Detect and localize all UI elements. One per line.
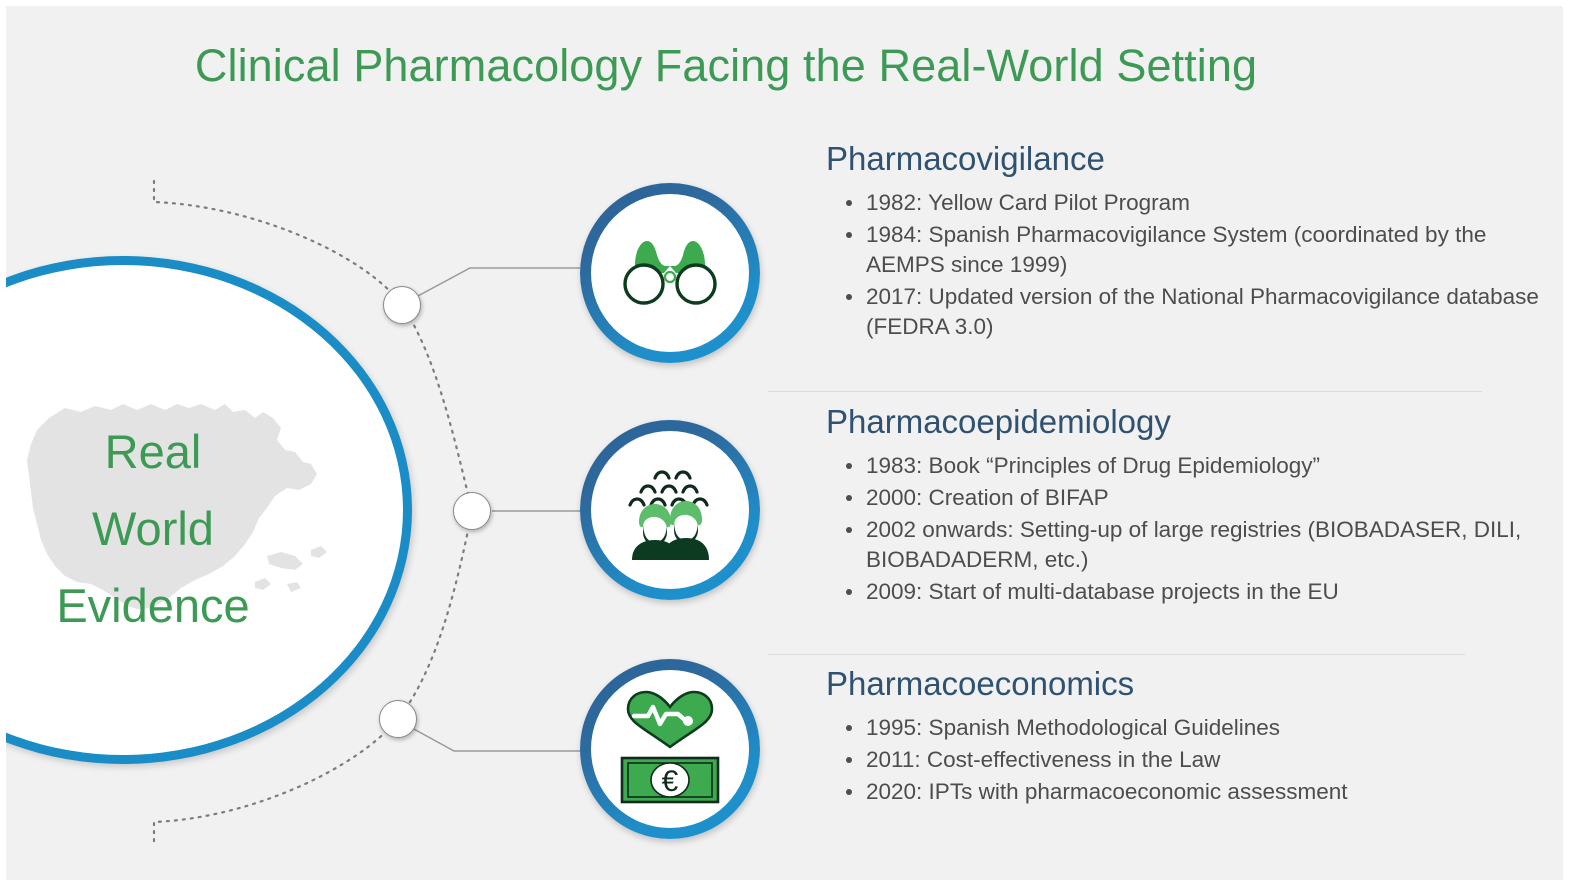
section-pharmacovigilance: Pharmacovigilance 1982: Yellow Card Pilo… xyxy=(826,139,1546,344)
bullet-list: 1995: Spanish Methodological Guidelines … xyxy=(826,713,1347,807)
section-divider xyxy=(768,654,1465,655)
section-pharmacoepidemiology: Pharmacoepidemiology 1983: Book “Princip… xyxy=(826,402,1546,609)
list-item: 2020: IPTs with pharmacoeconomic assessm… xyxy=(826,777,1347,807)
section-heading: Pharmacoepidemiology xyxy=(826,402,1546,442)
list-item: 1982: Yellow Card Pilot Program xyxy=(826,188,1546,218)
hub-label: Real World Evidence xyxy=(6,413,303,644)
list-item: 2000: Creation of BIFAP xyxy=(826,483,1546,513)
hub-label-line-2: World xyxy=(6,490,303,567)
icon-inner: € xyxy=(591,670,749,828)
connector-node-pharmacovigilance[interactable] xyxy=(383,286,421,324)
list-item: 2017: Updated version of the National Ph… xyxy=(826,282,1546,342)
icon-inner xyxy=(591,194,749,352)
icon-circle-pharmacoeconomics[interactable]: € xyxy=(580,659,760,839)
list-item: 1995: Spanish Methodological Guidelines xyxy=(826,713,1347,743)
section-heading: Pharmacoeconomics xyxy=(826,664,1347,704)
hub-label-line-1: Real xyxy=(6,413,303,490)
heart-euro-icon: € xyxy=(614,690,726,808)
infographic-slide: Clinical Pharmacology Facing the Real-Wo… xyxy=(6,6,1563,880)
connector-node-pharmacoepidemiology[interactable] xyxy=(453,492,491,530)
section-divider xyxy=(768,391,1482,392)
bullet-list: 1983: Book “Principles of Drug Epidemiol… xyxy=(826,451,1546,607)
icon-circle-pharmacovigilance[interactable] xyxy=(580,183,760,363)
connector-node-pharmacoeconomics[interactable] xyxy=(379,700,417,738)
list-item: 1983: Book “Principles of Drug Epidemiol… xyxy=(826,451,1546,481)
svg-text:€: € xyxy=(662,765,679,798)
binoculars-icon xyxy=(616,235,724,311)
hub-label-line-3: Evidence xyxy=(6,567,303,644)
icon-inner xyxy=(591,431,749,589)
people-crowd-icon xyxy=(614,460,726,560)
section-heading: Pharmacovigilance xyxy=(826,139,1546,179)
page-title: Clinical Pharmacology Facing the Real-Wo… xyxy=(6,40,1446,92)
section-pharmacoeconomics: Pharmacoeconomics 1995: Spanish Methodol… xyxy=(826,664,1347,809)
bullet-list: 1982: Yellow Card Pilot Program 1984: Sp… xyxy=(826,188,1546,342)
list-item: 1984: Spanish Pharmacovigilance System (… xyxy=(826,220,1546,280)
list-item: 2009: Start of multi-database projects i… xyxy=(826,577,1546,607)
list-item: 2002 onwards: Setting-up of large regist… xyxy=(826,515,1546,575)
hub-circle: Real World Evidence xyxy=(6,256,412,764)
list-item: 2011: Cost-effectiveness in the Law xyxy=(826,745,1347,775)
real-world-evidence-hub: Real World Evidence xyxy=(6,256,424,776)
icon-circle-pharmacoepidemiology[interactable] xyxy=(580,420,760,600)
